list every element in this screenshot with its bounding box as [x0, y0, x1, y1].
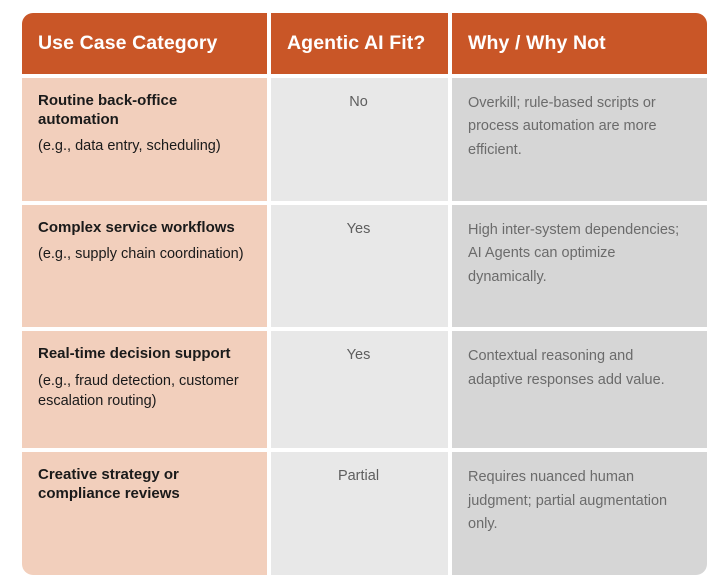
column-header-agentic-ai-fit: Agentic AI Fit?	[271, 13, 448, 74]
table-row: Routine back-office automation (e.g., da…	[22, 78, 707, 201]
cell-category: Real-time decision support (e.g., fraud …	[22, 331, 267, 448]
cell-category: Routine back-office automation (e.g., da…	[22, 78, 267, 201]
cell-why: Requires nuanced human judgment; partial…	[452, 452, 707, 575]
table-header: Use Case Category Agentic AI Fit? Why / …	[22, 13, 707, 74]
table-header-row: Use Case Category Agentic AI Fit? Why / …	[22, 13, 707, 74]
column-header-why-why-not: Why / Why Not	[452, 13, 707, 74]
cell-why: Overkill; rule-based scripts or process …	[452, 78, 707, 201]
table-row: Creative strategy or compliance reviews …	[22, 452, 707, 575]
cell-why: High inter-system dependencies; AI Agent…	[452, 205, 707, 328]
cell-category: Creative strategy or compliance reviews	[22, 452, 267, 575]
category-title: Creative strategy or compliance reviews	[38, 465, 249, 503]
use-case-fit-table-container: Use Case Category Agentic AI Fit? Why / …	[22, 13, 707, 575]
category-subtext: (e.g., supply chain coordination)	[38, 244, 249, 264]
category-title: Complex service workflows	[38, 218, 249, 237]
cell-category: Complex service workflows (e.g., supply …	[22, 205, 267, 328]
cell-fit: No	[271, 78, 448, 201]
table-row: Complex service workflows (e.g., supply …	[22, 205, 707, 328]
use-case-fit-table: Use Case Category Agentic AI Fit? Why / …	[22, 13, 707, 575]
category-title: Routine back-office automation	[38, 91, 249, 129]
cell-fit: Yes	[271, 331, 448, 448]
category-subtext: (e.g., data entry, scheduling)	[38, 136, 249, 156]
table-body: Routine back-office automation (e.g., da…	[22, 74, 707, 575]
cell-fit: Yes	[271, 205, 448, 328]
table-row: Real-time decision support (e.g., fraud …	[22, 331, 707, 448]
cell-why: Contextual reasoning and adaptive respon…	[452, 331, 707, 448]
category-title: Real-time decision support	[38, 344, 249, 363]
cell-fit: Partial	[271, 452, 448, 575]
category-subtext: (e.g., fraud detection, customer escalat…	[38, 371, 249, 412]
column-header-use-case-category: Use Case Category	[22, 13, 267, 74]
